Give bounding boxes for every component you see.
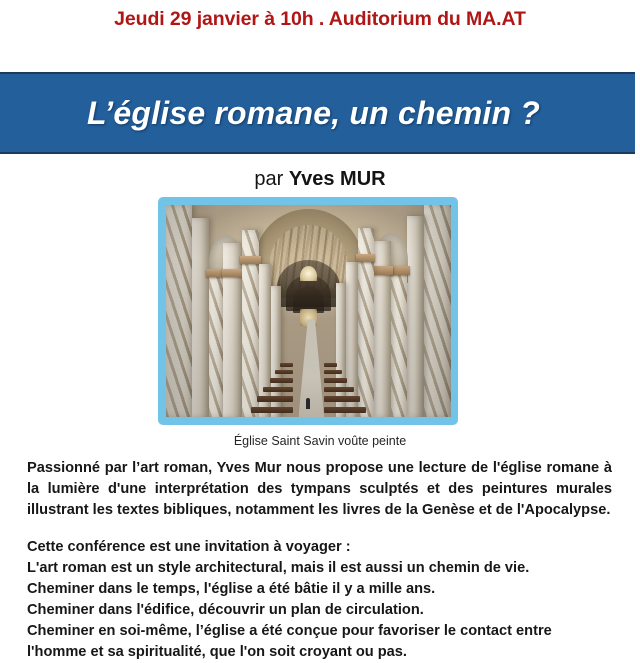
speaker-name: Yves MUR: [289, 168, 386, 190]
paragraph-spacer: [27, 521, 612, 537]
description-block: Passionné par l’art roman, Yves Mur nous…: [27, 458, 612, 663]
invitation-line: L'art roman est un style architectural, …: [27, 558, 612, 579]
page-title: L’église romane, un chemin ?: [87, 95, 540, 132]
invitation-line: Cheminer dans le temps, l'église a été b…: [27, 579, 612, 600]
photo-caption: Église Saint Savin voûte peinte: [0, 434, 640, 448]
photo-vignette: [166, 205, 451, 417]
photo-frame: [158, 197, 458, 425]
invitation-line: Cheminer dans l'édifice, découvrir un pl…: [27, 600, 612, 621]
speaker-prefix: par: [254, 168, 288, 190]
event-date-venue: Jeudi 29 janvier à 10h . Auditorium du M…: [0, 0, 640, 31]
invitation-line: Cheminer en soi-même, l’église a été con…: [27, 621, 612, 663]
intro-paragraph: Passionné par l’art roman, Yves Mur nous…: [27, 458, 612, 521]
church-nave-photo: [166, 205, 451, 417]
invitation-lines: Cette conférence est une invitation à vo…: [27, 537, 612, 663]
invitation-line: Cette conférence est une invitation à vo…: [27, 537, 612, 558]
speaker-line: par Yves MUR: [0, 168, 640, 191]
title-banner: L’église romane, un chemin ?: [0, 72, 635, 154]
